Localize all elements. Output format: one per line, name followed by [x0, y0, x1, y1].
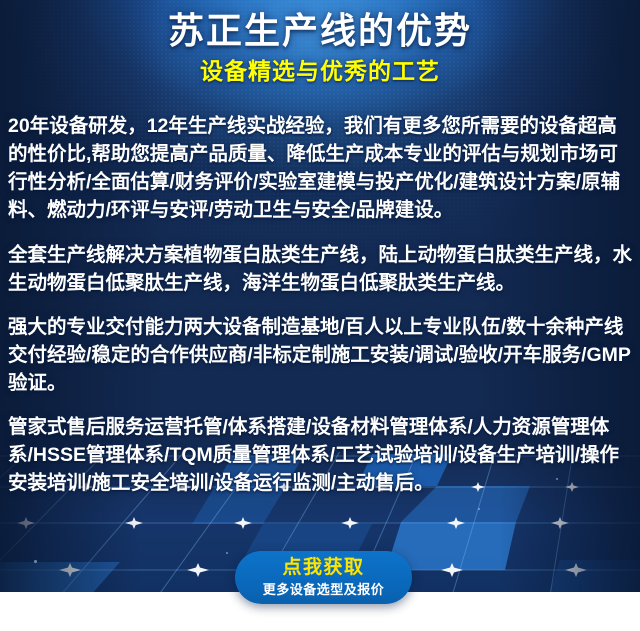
- cta-button[interactable]: 点我获取 更多设备选型及报价: [235, 551, 412, 604]
- cta-sub-label: 更多设备选型及报价: [263, 582, 385, 598]
- paragraph-after-sales-service: 管家式售后服务运营托管/体系搭建/设备材料管理体系/人力资源管理体系/HSSE管…: [8, 413, 632, 497]
- background-speck: [34, 560, 37, 563]
- paragraph-production-lines: 全套生产线解决方案植物蛋白肽类生产线，陆上动物蛋白肽类生产线，水生动物蛋白低聚肽…: [8, 241, 632, 297]
- promo-poster: 苏正生产线的优势 设备精选与优秀的工艺 20年设备研发，12年生产线实战经验，我…: [0, 0, 640, 631]
- page-subtitle: 设备精选与优秀的工艺: [0, 56, 640, 86]
- poster-header: 苏正生产线的优势 设备精选与优秀的工艺: [0, 8, 640, 86]
- cta-main-label: 点我获取: [282, 557, 364, 579]
- background-speck: [478, 508, 480, 510]
- paragraph-delivery-capability: 强大的专业交付能力两大设备制造基地/百人以上专业队伍/数十余种产线交付经验/稳定…: [8, 313, 632, 397]
- body-copy: 20年设备研发，12年生产线实战经验，我们有更多您所需要的设备超高的性价比,帮助…: [0, 112, 640, 497]
- page-title: 苏正生产线的优势: [0, 8, 640, 54]
- background-speck: [226, 552, 228, 554]
- paragraph-experience: 20年设备研发，12年生产线实战经验，我们有更多您所需要的设备超高的性价比,帮助…: [8, 112, 632, 224]
